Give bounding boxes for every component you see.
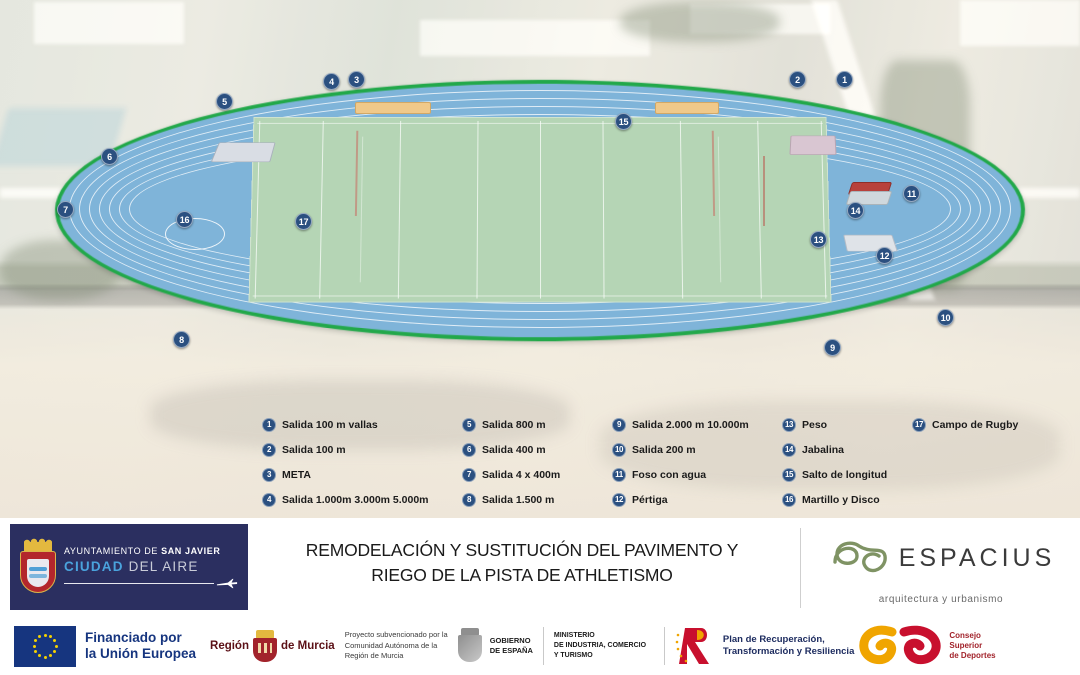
espacius-swirl-icon	[827, 532, 895, 584]
legend-number-badge: 16	[782, 493, 796, 507]
banner-divider	[800, 528, 801, 608]
map-marker-1[interactable]: 1	[836, 71, 853, 88]
murcia-shield-icon	[253, 630, 277, 662]
legend-item-5: 5Salida 800 m	[462, 418, 612, 432]
eu-line-2: la Unión Europea	[85, 646, 196, 662]
legend-number-badge: 2	[262, 443, 276, 457]
map-marker-5[interactable]: 5	[216, 93, 233, 110]
legend-item-2: 2Salida 100 m	[262, 443, 462, 457]
page-title: REMODELACIÓN Y SUSTITUCIÓN DEL PAVIMENTO…	[262, 538, 782, 589]
map-marker-16[interactable]: 16	[176, 211, 193, 228]
legend-item-4: 4Salida 1.000m 3.000m 5.000m	[262, 493, 462, 507]
legend-item-1: 1Salida 100 m vallas	[262, 418, 462, 432]
gobierno-de-espana-logo: GOBIERNO DE ESPAÑA	[455, 628, 533, 664]
long-jump-sandpit	[355, 102, 431, 114]
prtr-mark-icon	[675, 626, 717, 666]
map-marker-9[interactable]: 9	[824, 339, 841, 356]
legend-item-12: 12Pértiga	[612, 493, 782, 507]
legend-number-badge: 7	[462, 468, 476, 482]
high-jump-mat	[211, 142, 276, 162]
legend-item-11: 11Foso con agua	[612, 468, 782, 482]
legend-number-badge: 9	[612, 418, 626, 432]
map-marker-3[interactable]: 3	[348, 71, 365, 88]
legend-label: Peso	[802, 419, 827, 431]
logo-line-1: AYUNTAMIENTO DE SAN JAVIER	[64, 546, 244, 557]
eu-funding-text: Financiado por la Unión Europea	[85, 630, 196, 662]
map-marker-17[interactable]: 17	[295, 213, 312, 230]
funding-footer: Financiado por la Unión Europea Región d…	[0, 617, 1080, 675]
legend-label: Salida 400 m	[482, 444, 546, 456]
legend-label: Campo de Rugby	[932, 419, 1018, 431]
logo-line-2: CIUDAD DEL AIRE	[64, 559, 244, 576]
legend-item-8: 8Salida 1.500 m	[462, 493, 612, 507]
legend: 1Salida 100 m vallas5Salida 800 m9Salida…	[262, 412, 1062, 517]
footer-divider	[664, 627, 665, 665]
ministerio-text: MINISTERIO DE INDUSTRIA, COMERCIO Y TURI…	[554, 631, 654, 660]
legend-label: Salida 100 m	[282, 444, 346, 456]
legend-number-badge: 4	[262, 493, 276, 507]
legend-item-9: 9Salida 2.000 m 10.000m	[612, 418, 782, 432]
espacius-wordmark: ESPACIUS	[899, 544, 1056, 573]
legend-item-16: 16Martillo y Disco	[782, 493, 912, 507]
legend-label: Martillo y Disco	[802, 494, 880, 506]
legend-label: META	[282, 469, 311, 481]
espacius-logo: ESPACIUS arquitectura y urbanismo	[812, 532, 1070, 605]
csd-mark-icon	[858, 622, 944, 670]
throwing-circle	[165, 218, 225, 250]
map-marker-4[interactable]: 4	[323, 73, 340, 90]
gobierno-text: GOBIERNO DE ESPAÑA	[490, 636, 533, 656]
legend-label: Salida 1.500 m	[482, 494, 554, 506]
legend-item-17: 17Campo de Rugby	[912, 418, 1062, 432]
map-marker-2[interactable]: 2	[789, 71, 806, 88]
legend-number-badge: 11	[612, 468, 626, 482]
title-line-2: RIEGO DE LA PISTA DE ATHLETISMO	[262, 563, 782, 588]
legend-number-badge: 10	[612, 443, 626, 457]
legend-label: Salto de longitud	[802, 469, 887, 481]
rugby-goalpost	[712, 131, 715, 216]
legend-label: Salida 100 m vallas	[282, 419, 378, 431]
eu-line-1: Financiado por	[85, 630, 196, 646]
spain-coat-of-arms-icon	[455, 628, 485, 664]
legend-label: Salida 2.000 m 10.000m	[632, 419, 749, 431]
photo-vegetation	[620, 2, 780, 42]
csd-text: Consejo Superior de Deportes	[949, 631, 995, 661]
map-marker-7[interactable]: 7	[57, 201, 74, 218]
legend-number-badge: 5	[462, 418, 476, 432]
photo-building	[34, 2, 184, 44]
legend-label: Salida 800 m	[482, 419, 546, 431]
footer-divider	[543, 627, 544, 665]
prtr-text: Plan de Recuperación, Transformación y R…	[723, 634, 854, 659]
rugby-field	[249, 117, 832, 303]
legend-item-7: 7Salida 4 x 400m	[462, 468, 612, 482]
legend-number-badge: 1	[262, 418, 276, 432]
legend-label: Jabalina	[802, 444, 844, 456]
pole-vault-mat	[789, 136, 836, 155]
map-marker-11[interactable]: 11	[903, 185, 920, 202]
map-marker-6[interactable]: 6	[101, 148, 118, 165]
legend-number-badge: 14	[782, 443, 796, 457]
legend-number-badge: 12	[612, 493, 626, 507]
subsidy-note: Proyecto subvencionado por la Comunidad …	[345, 630, 449, 662]
legend-number-badge: 6	[462, 443, 476, 457]
prtr-logo: Plan de Recuperación, Transformación y R…	[675, 626, 854, 666]
map-marker-8[interactable]: 8	[173, 331, 190, 348]
photo-building	[420, 20, 650, 56]
legend-label: Salida 1.000m 3.000m 5.000m	[282, 494, 429, 506]
legend-item-6: 6Salida 400 m	[462, 443, 612, 457]
legend-number-badge: 15	[782, 468, 796, 482]
consejo-superior-deportes-logo: Consejo Superior de Deportes	[858, 622, 995, 670]
legend-label: Salida 200 m	[632, 444, 696, 456]
eu-flag-icon	[14, 626, 76, 667]
map-marker-13[interactable]: 13	[810, 231, 827, 248]
long-jump-sandpit	[655, 102, 719, 114]
legend-number-badge: 8	[462, 493, 476, 507]
legend-label: Salida 4 x 400m	[482, 469, 560, 481]
athletics-track-diagram	[55, 78, 1025, 340]
legend-label: Pértiga	[632, 494, 668, 506]
photo-building	[960, 0, 1080, 46]
airplane-icon	[216, 578, 238, 589]
map-marker-12[interactable]: 12	[876, 247, 893, 264]
javelin-marker	[763, 156, 765, 226]
legend-item-14: 14Jabalina	[782, 443, 912, 457]
legend-number-badge: 3	[262, 468, 276, 482]
legend-number-badge: 13	[782, 418, 796, 432]
legend-item-13: 13Peso	[782, 418, 912, 432]
murcia-left-word: Región	[210, 640, 249, 652]
title-line-1: REMODELACIÓN Y SUSTITUCIÓN DEL PAVIMENTO…	[262, 538, 782, 563]
murcia-right-word: de Murcia	[281, 640, 335, 652]
legend-number-badge: 17	[912, 418, 926, 432]
map-marker-14[interactable]: 14	[847, 202, 864, 219]
region-de-murcia-logo: Región de Murcia	[210, 630, 335, 662]
ayuntamiento-san-javier-logo: AYUNTAMIENTO DE SAN JAVIER CIUDAD DEL AI…	[10, 524, 248, 610]
coat-of-arms-icon	[18, 541, 58, 593]
rugby-goalpost	[355, 131, 358, 216]
espacius-tagline: arquitectura y urbanismo	[812, 594, 1070, 605]
legend-item-15: 15Salto de longitud	[782, 468, 912, 482]
legend-item-3: 3META	[262, 468, 462, 482]
legend-label: Foso con agua	[632, 469, 706, 481]
map-marker-15[interactable]: 15	[615, 113, 632, 130]
map-marker-10[interactable]: 10	[937, 309, 954, 326]
logo-underline	[64, 579, 244, 588]
title-banner: AYUNTAMIENTO DE SAN JAVIER CIUDAD DEL AI…	[0, 518, 1080, 617]
legend-item-10: 10Salida 200 m	[612, 443, 782, 457]
